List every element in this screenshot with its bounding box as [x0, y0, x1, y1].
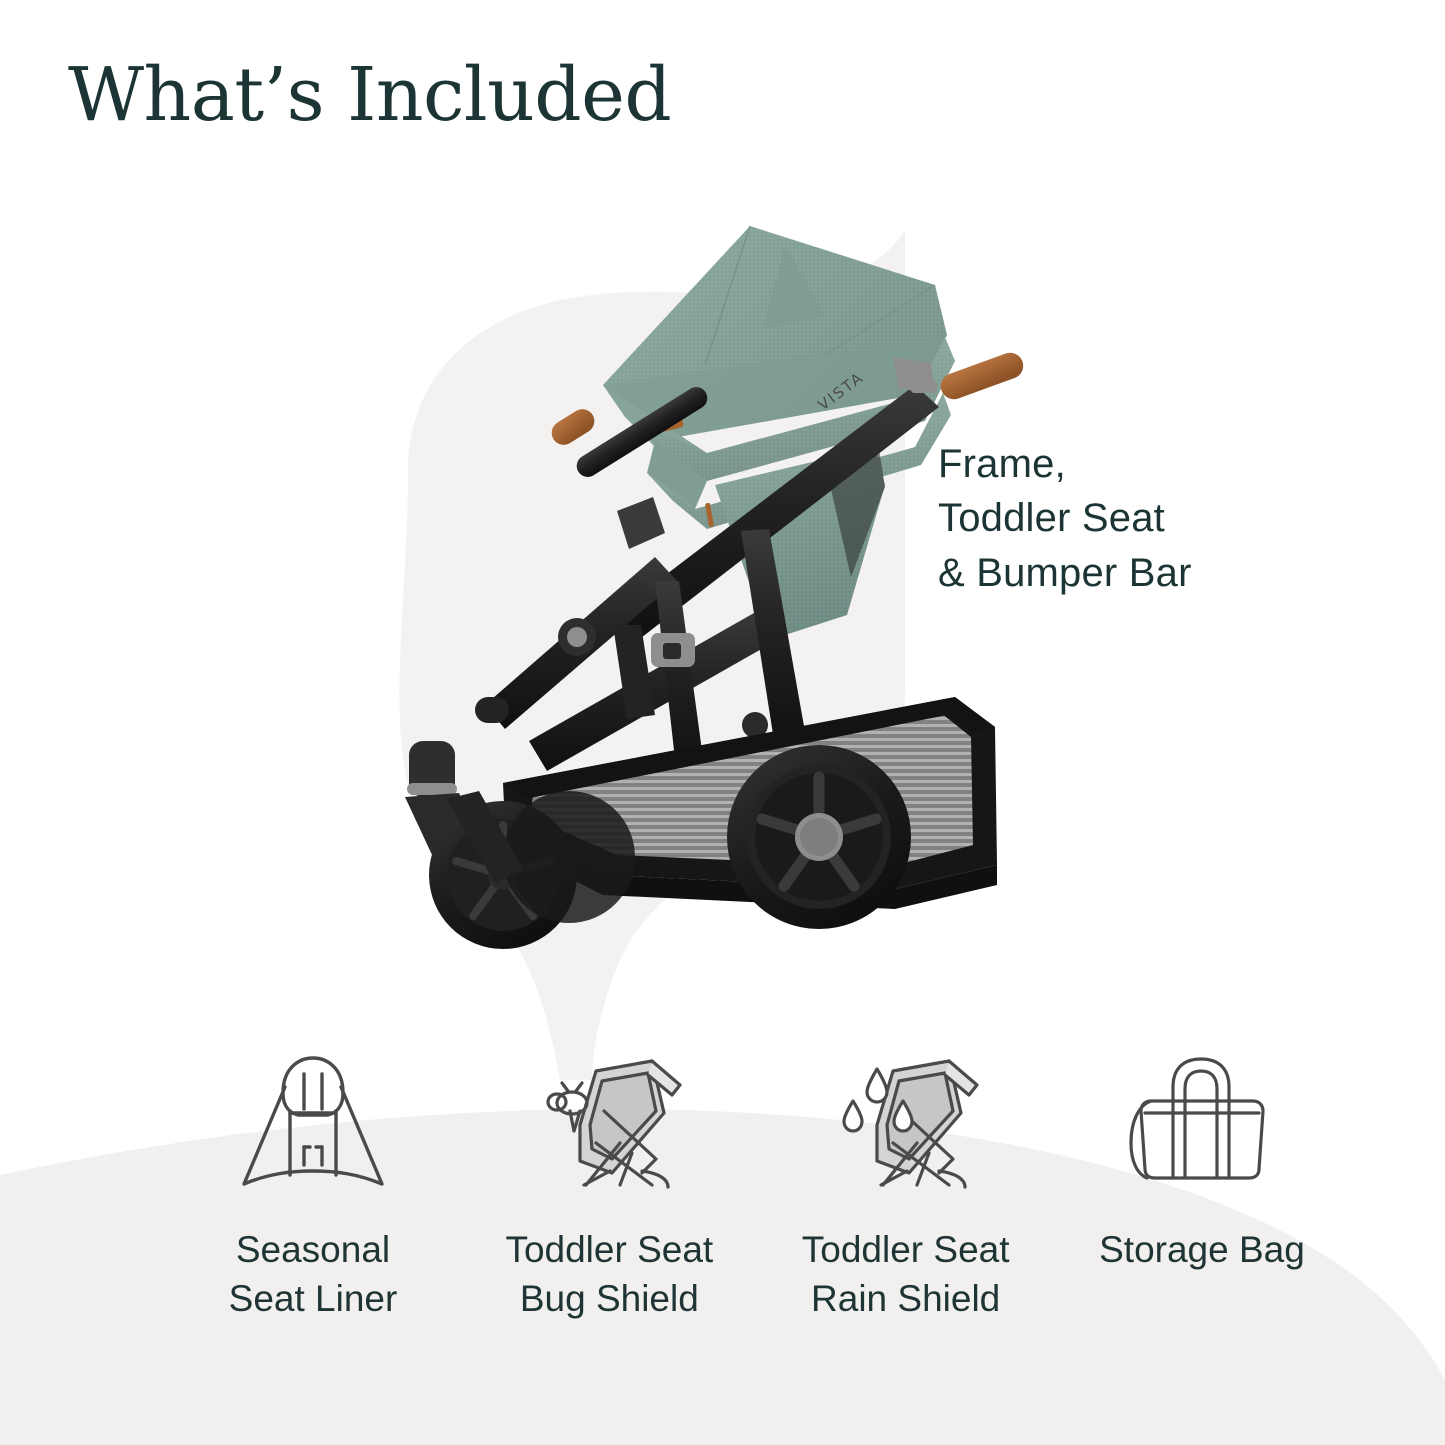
seat-liner-icon	[228, 1045, 398, 1197]
included-item-label: Toddler Seat Rain Shield	[802, 1225, 1010, 1323]
label-line-2: Bug Shield	[505, 1274, 713, 1323]
page-title: What’s Included	[68, 58, 671, 132]
label-line-1: Toddler Seat	[802, 1225, 1010, 1274]
included-item-label: Storage Bag	[1099, 1225, 1305, 1274]
bug-shield-icon	[524, 1045, 694, 1197]
storage-bag-icon	[1117, 1045, 1287, 1197]
included-item-seasonal-seat-liner[interactable]: Seasonal Seat Liner	[170, 1045, 456, 1323]
included-item-toddler-seat-bug-shield[interactable]: Toddler Seat Bug Shield	[466, 1045, 752, 1323]
label-line-1: Storage Bag	[1099, 1225, 1305, 1274]
label-line-2: Rain Shield	[802, 1274, 1010, 1323]
stroller-product-image: VISTA	[355, 185, 1035, 975]
label-line-1: Seasonal	[229, 1225, 398, 1274]
whats-included-infographic: What’s Included Frame, Toddler Seat & Bu…	[0, 0, 1445, 1445]
label-line-2: Seat Liner	[229, 1274, 398, 1323]
label-line-1: Toddler Seat	[505, 1225, 713, 1274]
rain-shield-icon	[821, 1045, 991, 1197]
rear-wheel	[727, 745, 911, 929]
included-items-row: Seasonal Seat Liner	[170, 1045, 1345, 1385]
included-item-toddler-seat-rain-shield[interactable]: Toddler Seat Rain Shield	[763, 1045, 1049, 1323]
included-item-storage-bag[interactable]: Storage Bag	[1059, 1045, 1345, 1274]
included-item-label: Seasonal Seat Liner	[229, 1225, 398, 1323]
included-item-label: Toddler Seat Bug Shield	[505, 1225, 713, 1323]
